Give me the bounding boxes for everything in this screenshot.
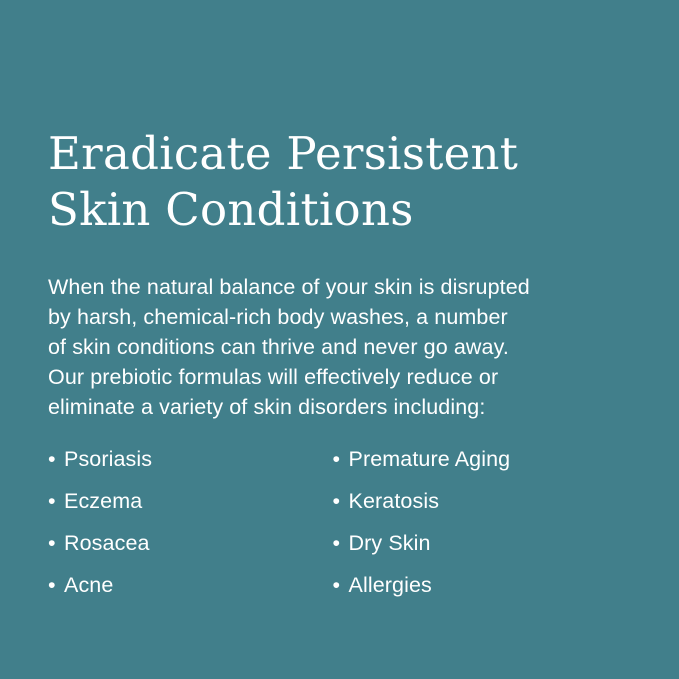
- bullet-icon: •: [48, 447, 64, 471]
- page-title: Eradicate Persistent Skin Conditions: [48, 126, 631, 238]
- list-item: • Rosacea: [48, 531, 333, 555]
- list-item-label: Psoriasis: [64, 447, 152, 471]
- conditions-lists: • Psoriasis • Eczema • Rosacea • Acne • …: [48, 447, 631, 615]
- bullet-icon: •: [333, 489, 349, 513]
- promo-card: Eradicate Persistent Skin Conditions Whe…: [0, 0, 679, 679]
- list-item-label: Premature Aging: [349, 447, 511, 471]
- list-item-label: Allergies: [349, 573, 432, 597]
- headline-line-2: Skin Conditions: [48, 182, 631, 238]
- body-line-4: Our prebiotic formulas will effectively …: [48, 362, 639, 392]
- list-item-label: Dry Skin: [349, 531, 431, 555]
- list-item-label: Acne: [64, 573, 113, 597]
- bullet-icon: •: [333, 447, 349, 471]
- body-paragraph: When the natural balance of your skin is…: [48, 272, 639, 422]
- list-item: • Allergies: [333, 573, 631, 597]
- list-item: • Psoriasis: [48, 447, 333, 471]
- list-item: • Keratosis: [333, 489, 631, 513]
- list-item: • Dry Skin: [333, 531, 631, 555]
- list-item-label: Keratosis: [349, 489, 440, 513]
- body-line-1: When the natural balance of your skin is…: [48, 272, 639, 302]
- bullet-icon: •: [48, 573, 64, 597]
- list-item-label: Rosacea: [64, 531, 150, 555]
- body-line-5: eliminate a variety of skin disorders in…: [48, 392, 639, 422]
- body-line-3: of skin conditions can thrive and never …: [48, 332, 639, 362]
- body-line-2: by harsh, chemical-rich body washes, a n…: [48, 302, 639, 332]
- bullet-icon: •: [48, 531, 64, 555]
- conditions-list-right: • Premature Aging • Keratosis • Dry Skin…: [333, 447, 631, 615]
- list-item: • Eczema: [48, 489, 333, 513]
- list-item-label: Eczema: [64, 489, 142, 513]
- bullet-icon: •: [333, 573, 349, 597]
- list-item: • Premature Aging: [333, 447, 631, 471]
- bullet-icon: •: [333, 531, 349, 555]
- bullet-icon: •: [48, 489, 64, 513]
- headline-line-1: Eradicate Persistent: [48, 126, 631, 182]
- conditions-list-left: • Psoriasis • Eczema • Rosacea • Acne: [48, 447, 333, 615]
- list-item: • Acne: [48, 573, 333, 597]
